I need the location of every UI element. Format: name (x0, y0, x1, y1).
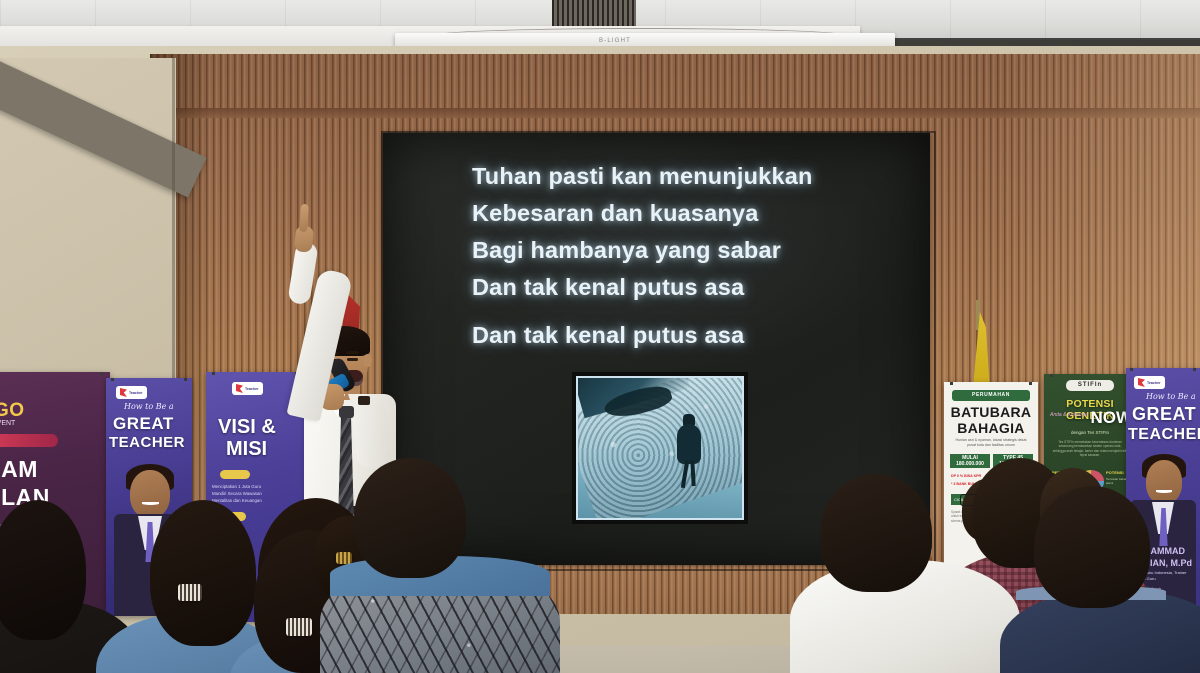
lyric-refrain: Dan tak kenal putus asa (472, 317, 892, 354)
lyric-line-2: Kebesaran dan kuasanya (472, 195, 892, 232)
audience-head-woman-2 (150, 500, 256, 646)
stifin-script-sub: Anda & Keluarga (1050, 412, 1088, 418)
audience-head-man-navy (1034, 486, 1150, 608)
teacherpreneur-logo: Teacher (116, 386, 147, 399)
light-fixture-label: B-LIGHT (555, 38, 675, 44)
banner-hooks (106, 378, 192, 379)
stifin-tag: STIFIn (1066, 380, 1114, 391)
banner-script-line: How to Be a (124, 402, 174, 411)
perumahan-tag: PERUMAHAN (952, 390, 1030, 401)
presenter-brow-right (346, 351, 359, 354)
lyric-line-3: Bagi hambanya yang sabar (472, 232, 892, 269)
audience-head-man-batik (354, 458, 466, 578)
banner-program-pill-label: EVENT (0, 420, 102, 427)
presenter-ear (363, 354, 372, 367)
banner-hooks (0, 372, 110, 373)
banner-script-line: How to Be a (1146, 392, 1196, 401)
banner-program-line1: RAM (0, 456, 38, 483)
logo-brand-text: Teacher (1147, 381, 1161, 385)
stifin-key-2: POTENSI (1106, 470, 1124, 475)
visi-misi-headline-2: MISI (226, 438, 267, 461)
banner-hooks (1126, 368, 1200, 369)
presenter-tie-knot (339, 406, 354, 418)
teacherpreneur-logo: Teacher (232, 382, 263, 395)
banner-program-badge: GO (0, 400, 104, 422)
hair-clip-3 (286, 618, 312, 636)
banner-headline-2: TEACHER (109, 434, 185, 451)
banner-headline-1: GREAT (113, 414, 174, 434)
lyric-line-1: Tuhan pasti kan menunjukkan (472, 158, 892, 195)
presenter-eye-right (347, 358, 358, 361)
audience-head-man-white-shirt (820, 474, 932, 592)
banner2-headline-2: TEACHER (1128, 426, 1200, 444)
presenter-wristwatch (358, 396, 370, 405)
banner2-portrait-face (1146, 460, 1182, 504)
logo-brand-text: Teacher (129, 391, 143, 395)
hair-clip-4 (336, 552, 352, 564)
hair-clip-2 (178, 584, 202, 601)
teacherpreneur-mark-icon (1138, 378, 1145, 387)
flag-pole (976, 300, 979, 330)
banner-program-pill (0, 434, 58, 447)
teacherpreneur-mark-icon (120, 388, 127, 397)
teacherpreneur-mark-icon (236, 384, 243, 393)
banner-hooks (944, 382, 1038, 383)
lyrics-block: Tuhan pasti kan menunjukkan Kebesaran da… (472, 158, 892, 354)
projected-photo (578, 378, 742, 518)
stifin-body-text: Tes STIFIn memetakan kecerdasan dominan … (1052, 440, 1128, 457)
perumahan-price-1: MULAI 180.000.000 (950, 454, 990, 468)
perumahan-subtext: Hunian asri & nyaman, lokasi strategis d… (952, 438, 1030, 448)
presentation-photo-scene: B-LIGHT Tuhan pasti kan menunjukkan Kebe… (0, 0, 1200, 673)
photo-walking-person-icon (674, 414, 704, 478)
banner-portrait-smile (142, 502, 159, 505)
banner2-headline-1: GREAT (1132, 404, 1196, 425)
stifin-tagline: dengan Tes STIFIn (1044, 430, 1136, 435)
banner2-portrait-smile (1156, 490, 1172, 493)
perumahan-headline-2: BAHAGIA (944, 420, 1038, 436)
logo-brand-text: Teacher (245, 387, 259, 391)
banner-hooks (1044, 374, 1136, 375)
banner-portrait-face (130, 470, 170, 518)
perumahan-headline-1: BATUBARA (944, 404, 1038, 420)
visi-pill (220, 470, 250, 479)
lyric-line-4: Dan tak kenal putus asa (472, 269, 892, 306)
teacherpreneur-logo: Teacher (1134, 376, 1165, 389)
